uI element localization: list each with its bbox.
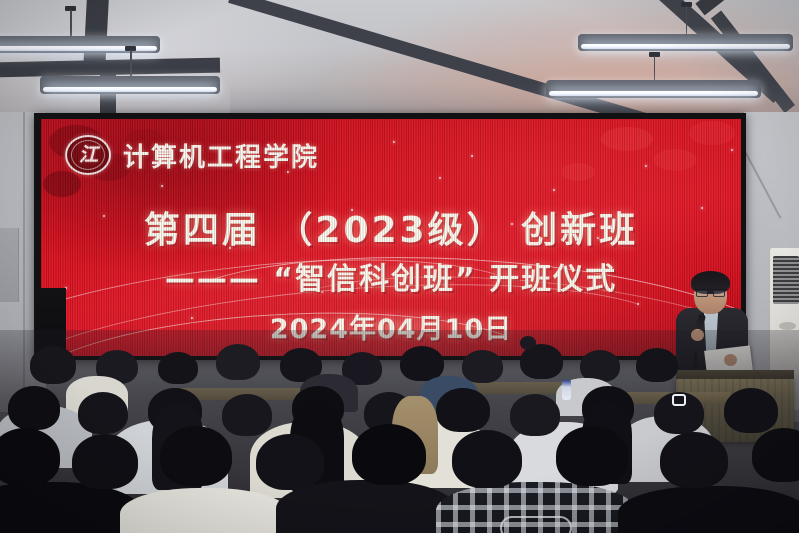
bokeh-circle bbox=[601, 127, 653, 151]
audience-head bbox=[256, 434, 324, 490]
sparkle bbox=[393, 141, 395, 143]
audience-head bbox=[8, 386, 60, 430]
photo-scene: 江 计算机工程学院 第四届 （2023级） 创新班 ——— “智信科创班” 开班… bbox=[0, 0, 799, 533]
audience-head bbox=[0, 428, 60, 486]
audience bbox=[0, 330, 799, 533]
jacket-graphic bbox=[500, 516, 572, 533]
ceiling bbox=[0, 0, 799, 116]
sparkle bbox=[471, 155, 473, 157]
college-name-text: 计算机工程学院 bbox=[123, 137, 319, 174]
audience-head bbox=[72, 434, 138, 489]
audience-head bbox=[160, 426, 232, 486]
audience-head bbox=[660, 432, 728, 488]
bokeh-circle bbox=[653, 149, 697, 171]
led-screen: 江 计算机工程学院 第四届 （2023级） 创新班 ——— “智信科创班” 开班… bbox=[41, 119, 741, 356]
audience-head bbox=[400, 346, 444, 381]
audience-bun bbox=[520, 336, 536, 350]
audience-head bbox=[510, 394, 560, 436]
sparkle bbox=[553, 189, 555, 191]
audience-head bbox=[158, 352, 198, 384]
audience-head bbox=[352, 424, 426, 485]
audience-head bbox=[222, 394, 272, 436]
audience-head bbox=[556, 426, 628, 486]
audience-head bbox=[452, 430, 522, 488]
emblem-glyph: 江 bbox=[79, 146, 97, 165]
bokeh-circle bbox=[561, 163, 595, 181]
glasses-icon bbox=[695, 289, 726, 296]
ac-grill bbox=[773, 256, 799, 304]
ceiling-beam-diagonal bbox=[695, 0, 799, 15]
sparkle bbox=[161, 185, 163, 187]
sparkle bbox=[439, 177, 441, 179]
audience-head bbox=[30, 346, 76, 384]
led-screen-frame: 江 计算机工程学院 第四届 （2023级） 创新班 ——— “智信科创班” 开班… bbox=[34, 113, 746, 360]
audience-shoulders bbox=[618, 486, 799, 533]
college-emblem: 江 bbox=[65, 135, 111, 175]
audience-head bbox=[216, 344, 260, 380]
audience-head bbox=[636, 348, 678, 382]
bokeh-circle bbox=[43, 171, 81, 197]
ac-badge bbox=[779, 322, 796, 330]
banner-title-sub: ——— “智信科创班” 开班仪式 bbox=[41, 254, 741, 298]
audience-head bbox=[462, 350, 503, 383]
audience-shoulders bbox=[120, 488, 290, 533]
audience-head bbox=[78, 392, 128, 434]
water-bottle bbox=[562, 380, 571, 400]
sparkle bbox=[645, 165, 647, 167]
wall-seam bbox=[745, 152, 781, 218]
bokeh-circle bbox=[689, 121, 735, 145]
hair-clip bbox=[672, 394, 686, 406]
wall-panel bbox=[0, 228, 19, 302]
banner-title-main: 第四届 （2023级） 创新班 bbox=[41, 201, 741, 253]
sparkle bbox=[731, 149, 733, 151]
audience-head bbox=[724, 388, 778, 433]
audience-head bbox=[436, 388, 490, 432]
